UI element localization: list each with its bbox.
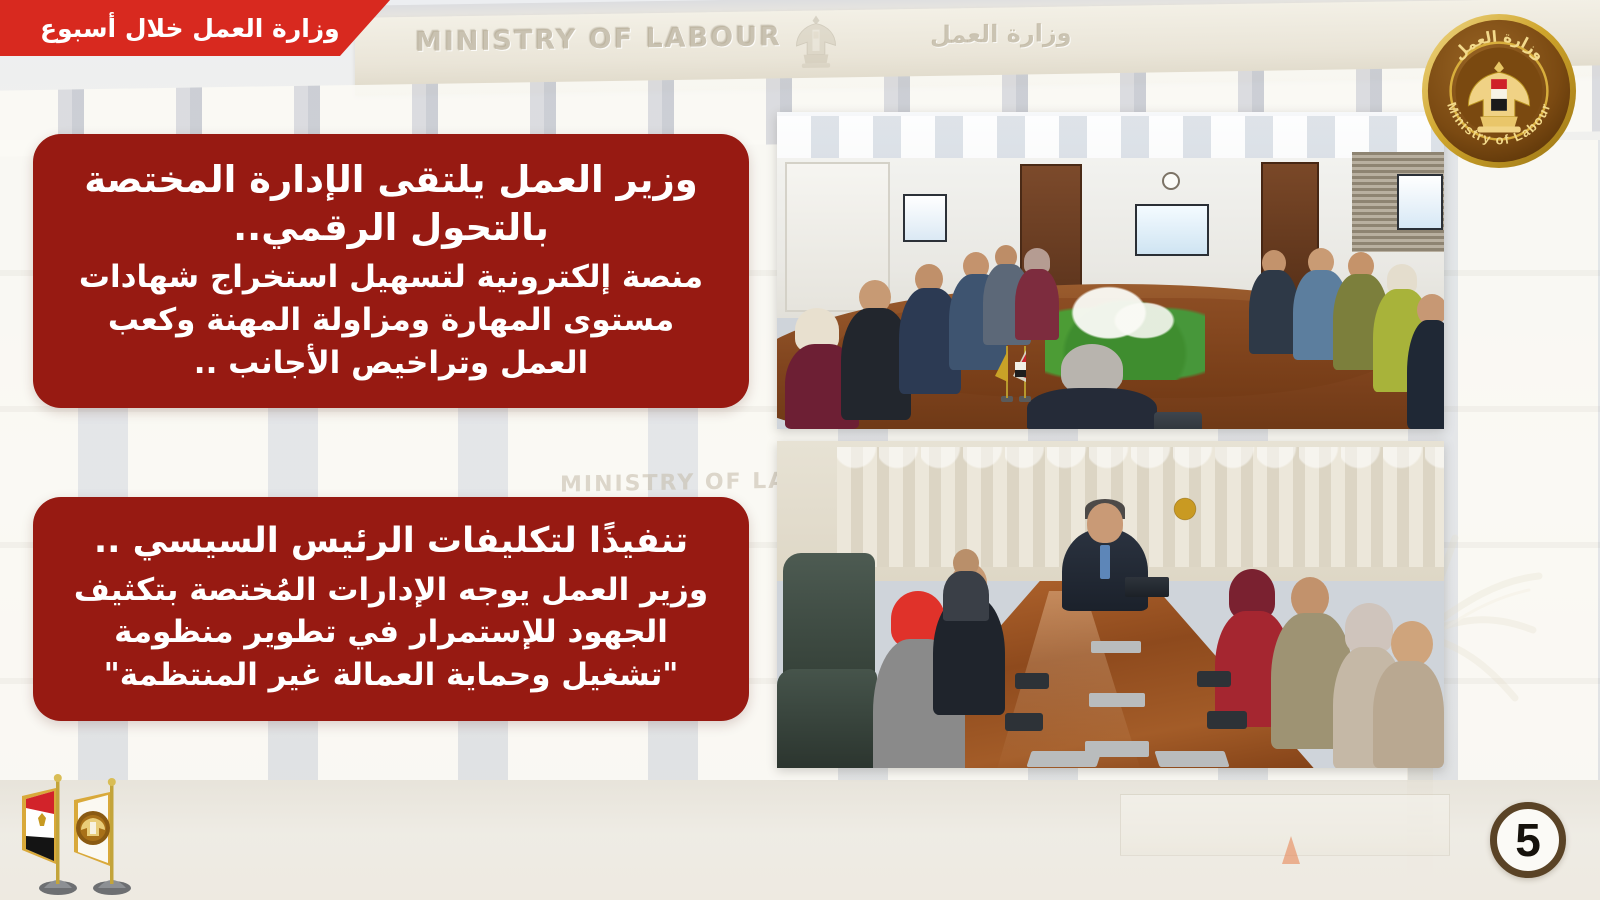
slide-root: MINISTRY OF LABOUR MINISTRY OF LABOUR وز… (0, 0, 1600, 900)
photo1-wall-screen-left (903, 194, 947, 242)
photo2-microphone (1005, 713, 1043, 731)
photo2-microphone (1207, 711, 1247, 729)
news-card-headline: وزير العمل يلتقى الإدارة المختصة بالتحول… (63, 156, 719, 252)
photo2-desk-plate (1154, 751, 1229, 767)
photo2-microphone (1197, 671, 1231, 687)
photo1-presentation-screen (1135, 204, 1209, 256)
page-number-badge: 5 (1490, 802, 1566, 878)
header-ribbon: وزارة العمل خلال أسبوع (0, 0, 390, 56)
egypt-eagle-emblem-icon (788, 12, 844, 75)
photo1-wall-clock (1162, 172, 1180, 190)
photo1-ceiling-lights (777, 116, 1444, 160)
ministry-of-labour-seal-icon: وزارة العمل Ministry of Labour (1420, 12, 1578, 170)
photo-informal-labour (777, 441, 1444, 768)
photo2-attendee (1373, 621, 1444, 768)
photo1-attendee (1249, 250, 1299, 354)
photo2-desk-plate (1089, 693, 1145, 707)
photo1-desk-phone (1154, 412, 1202, 429)
photo2-minister-head (1087, 503, 1123, 543)
news-card-digital-transformation: وزير العمل يلتقى الإدارة المختصة بالتحول… (33, 134, 749, 408)
page-number-value: 5 (1515, 817, 1541, 863)
news-card-informal-labour: تنفيذًا لتكليفات الرئيس السيسي .. وزير ا… (33, 497, 749, 721)
photo2-curtain-valance (837, 447, 1444, 493)
photo2-ministry-seal-icon (1171, 493, 1199, 525)
egypt-flag-icon (22, 788, 56, 864)
background-facade-lettering-en: MINISTRY OF LABOUR (415, 21, 782, 58)
photo2-minister-tie (1100, 545, 1110, 579)
photo-digital-transformation (777, 112, 1444, 429)
photo2-attendee (943, 549, 989, 621)
header-ribbon-label: وزارة العمل خلال أسبوع (40, 14, 340, 43)
photo2-leather-chair (777, 669, 877, 768)
photo2-laptop (1125, 577, 1169, 597)
photo2-microphone (1015, 673, 1049, 689)
ministry-flag-icon (74, 792, 110, 866)
desk-flags-group (8, 766, 168, 896)
traffic-cone-icon (1282, 836, 1300, 864)
news-card-headline: تنفيذًا لتكليفات الرئيس السيسي .. (63, 519, 719, 565)
news-card-body: وزير العمل يوجه الإدارات المُختصة بتكثيف… (63, 569, 719, 697)
photo2-desk-plate (1091, 641, 1141, 653)
photo2-desk-plate (1026, 751, 1101, 767)
photo1-desk-flags (991, 338, 1037, 404)
photo1-wall-screen-right (1397, 174, 1443, 230)
background-facade-lettering-ar: وزارة العمل (930, 19, 1072, 49)
photo1-minister-back-view (1027, 344, 1157, 429)
news-card-body: منصة إلكترونية لتسهيل استخراج شهادات مست… (63, 256, 719, 384)
photo1-attendee (1015, 248, 1059, 340)
photo1-attendee (1407, 294, 1444, 429)
